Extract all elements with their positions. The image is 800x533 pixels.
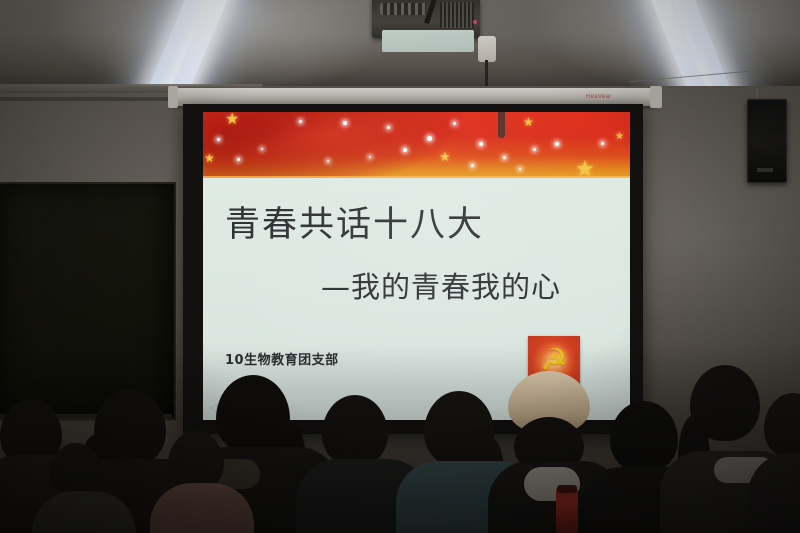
red-drape-highlight [209,112,447,178]
sparkle-icon [369,156,371,158]
sparkle-icon [453,122,456,125]
sparkle-icon [387,126,390,129]
fluorescent-lamp-left [150,0,280,66]
screen-brand-label: ReaVeal [586,94,611,100]
star-icon: ★ [523,116,534,128]
slide-banner: ★ ★ ★ ★ ★ ★ [203,112,630,178]
star-icon: ★ [204,152,215,164]
sparkle-icon [299,120,302,123]
classroom-scene: ReaVeal ★ ★ ★ ★ ★ ★ [0,0,800,533]
seated-students [0,343,800,533]
audience-shadow-overlay [0,343,800,533]
sparkle-icon [519,168,521,170]
sparkle-icon [555,142,559,146]
star-icon: ★ [615,132,624,142]
sparkle-icon [503,156,506,159]
screen-casing-cap-left [168,86,178,108]
sparkle-icon [403,148,407,152]
sparkle-icon [217,138,220,141]
fluorescent-lamp-right [650,0,790,66]
star-icon: ★ [439,150,451,163]
star-icon: ★ [575,158,595,178]
sparkle-icon [327,160,329,162]
sparkle-icon [533,148,536,151]
sparkle-icon [479,142,483,146]
sparkle-icon [237,158,240,161]
cable-shadow [498,112,505,138]
speaker-badge [757,168,773,172]
star-icon: ★ [225,112,239,128]
smoke-detector-icon [478,36,496,62]
sparkle-icon [427,136,432,141]
smoke-detector-stem [485,60,488,86]
screen-casing-cap-right [650,86,662,108]
sparkle-icon [601,142,604,145]
sparkle-icon [261,148,263,150]
slide-title: 青春共话十八大 [225,208,585,243]
projector-lens-panel [382,30,474,52]
sparkle-icon [343,121,347,125]
sparkle-icon [471,164,474,167]
slide-subtitle: —我的青春我的心 [321,273,630,302]
